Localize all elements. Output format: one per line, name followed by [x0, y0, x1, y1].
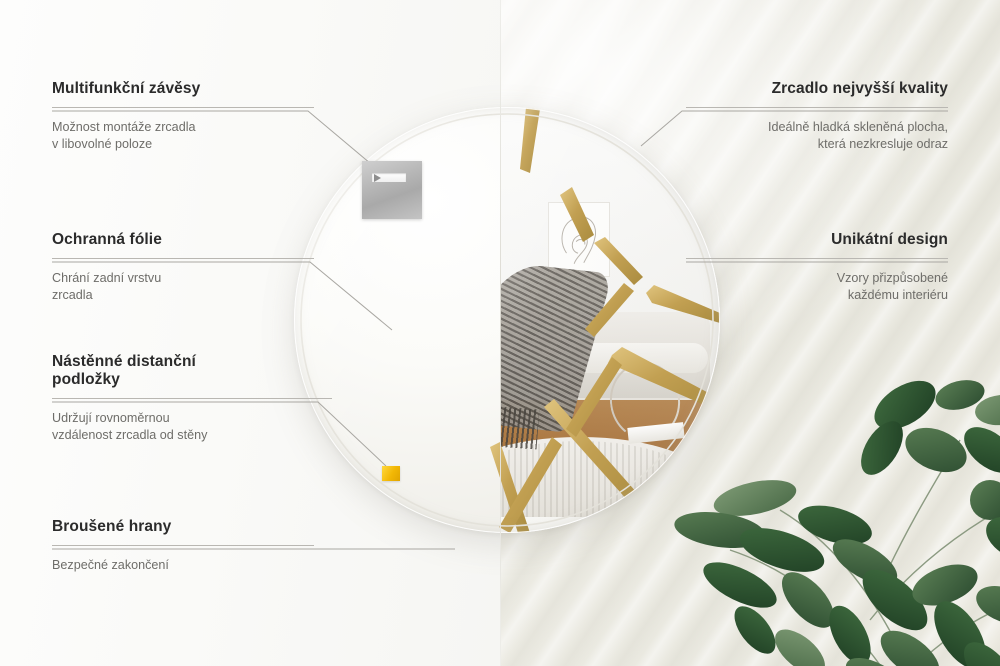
callout-body: Bezpečné zakončení — [52, 557, 314, 574]
callout-body-line1: Bezpečné zakončení — [52, 558, 169, 572]
callout-rule — [52, 258, 314, 259]
round-mirror — [294, 107, 720, 533]
callout-body: Chrání zadní vrstvu zrcadla — [52, 270, 314, 304]
callout-title: Multifunkční závěsy — [52, 80, 314, 98]
callout-body: Ideálně hladká skleněná plocha, která ne… — [686, 119, 948, 153]
callout-body-line2: zrcadla — [52, 288, 93, 302]
callout-rule — [686, 258, 948, 259]
callout-body-line1: Chrání zadní vrstvu — [52, 271, 161, 285]
callout-body-line1: Vzory přizpůsobené — [837, 271, 948, 285]
callout-ochranna-folie: Ochranná fólie Chrání zadní vrstvu zrcad… — [52, 231, 314, 304]
hanger-bracket-icon — [362, 161, 422, 219]
plant-foliage-decoration — [660, 300, 1000, 666]
callout-title: Broušené hrany — [52, 518, 314, 536]
hanger-slot — [372, 173, 406, 182]
callout-unikatni-design: Unikátní design Vzory přizpůsobené každé… — [686, 231, 948, 304]
callout-brousene-hrany: Broušené hrany Bezpečné zakončení — [52, 518, 314, 574]
callout-title: Ochranná fólie — [52, 231, 314, 249]
callout-body: Vzory přizpůsobené každému interiéru — [686, 270, 948, 304]
callout-body-line2: která nezkresluje odraz — [818, 137, 948, 151]
callout-rule — [52, 545, 314, 546]
wall-spacer-icon — [382, 466, 400, 481]
callout-body: Možnost montáže zrcadla v libovolné polo… — [52, 119, 314, 153]
callout-body-line2: vzdálenost zrcadla od stěny — [52, 428, 207, 442]
callout-body: Udržují rovnoměrnou vzdálenost zrcadla o… — [52, 410, 332, 444]
mirror-clip — [294, 107, 720, 533]
callout-body-line2: v libovolné poloze — [52, 137, 152, 151]
callout-rule — [686, 107, 948, 108]
gold-geometric-pattern — [294, 107, 720, 533]
callout-body-line2: každému interiéru — [848, 288, 948, 302]
product-infographic: Multifunkční závěsy Možnost montáže zrca… — [0, 0, 1000, 666]
callout-nastenne-distancni-podlozky: Nástěnné distanční podložky Udržují rovn… — [52, 353, 332, 444]
callout-title-line1: Nástěnné distanční — [52, 353, 196, 370]
callout-body-line1: Možnost montáže zrcadla — [52, 120, 196, 134]
callout-body-line1: Ideálně hladká skleněná plocha, — [768, 120, 948, 134]
callout-multifunkcni-zavesy: Multifunkční závěsy Možnost montáže zrca… — [52, 80, 314, 153]
callout-title-line2: podložky — [52, 371, 120, 388]
callout-zrcadlo-nejvyssi-kvality: Zrcadlo nejvyšší kvality Ideálně hladká … — [686, 80, 948, 153]
panel-divider — [500, 0, 501, 666]
callout-title: Nástěnné distanční podložky — [52, 353, 332, 389]
callout-rule — [52, 107, 314, 108]
callout-rule — [52, 398, 332, 399]
callout-title: Zrcadlo nejvyšší kvality — [686, 80, 948, 98]
callout-title: Unikátní design — [686, 231, 948, 249]
callout-body-line1: Udržují rovnoměrnou — [52, 411, 170, 425]
